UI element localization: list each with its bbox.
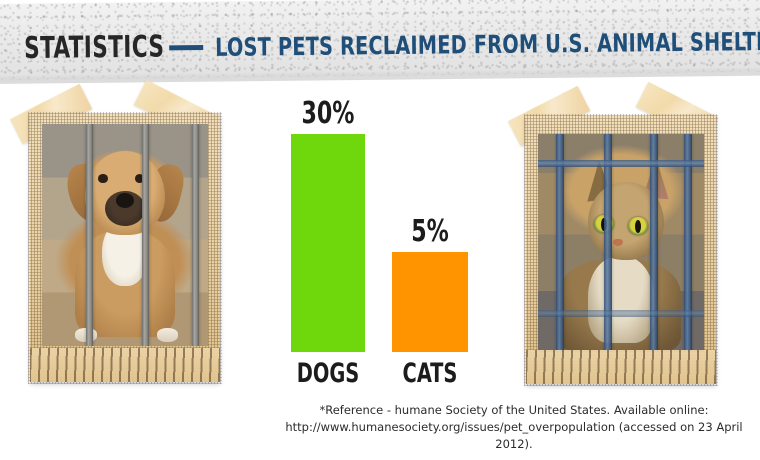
footnote: *Reference - humane Society of the Unite… xyxy=(275,402,753,453)
photo-frame-cat xyxy=(526,116,716,384)
footnote-line-1: *Reference - humane Society of the Unite… xyxy=(275,402,753,419)
bar-value-label-cats: 5% xyxy=(411,217,449,247)
page-kicker: STATISTICS xyxy=(24,32,164,64)
photo-card-dog xyxy=(8,92,223,392)
footnote-line-2: http://www.humanesociety.org/issues/pet_… xyxy=(275,419,753,453)
bar-group-cats: 5% CATS xyxy=(392,252,468,352)
bar-category-label-dogs: DOGS xyxy=(297,360,360,387)
photo-frame-dog xyxy=(30,114,220,382)
title-dash-divider xyxy=(169,45,203,50)
cage-bar-horizontal xyxy=(538,310,704,317)
cat-scene xyxy=(538,134,704,352)
page-title: LOST PETS RECLAIMED FROM U.S. ANIMAL SHE… xyxy=(215,28,760,59)
bar-chart: 30% DOGS 5% CATS xyxy=(270,100,490,390)
infographic-canvas: STATISTICS LOST PETS RECLAIMED FROM U.S.… xyxy=(0,0,760,460)
header-title-row: STATISTICS LOST PETS RECLAIMED FROM U.S.… xyxy=(24,22,740,68)
photo-image-cat xyxy=(538,134,704,352)
photo-frame-bottom-dog xyxy=(30,348,220,382)
cage-bar xyxy=(86,124,93,346)
photo-image-dog xyxy=(42,124,208,346)
bar-category-label-cats: CATS xyxy=(403,360,458,387)
cage-bars-cat xyxy=(538,134,704,352)
cage-bars-dog xyxy=(42,124,208,346)
photo-card-cat xyxy=(488,92,728,392)
header-banner: STATISTICS LOST PETS RECLAIMED FROM U.S.… xyxy=(0,4,760,84)
cage-bar-horizontal xyxy=(538,160,704,167)
photo-frame-bottom-cat xyxy=(526,350,716,384)
bar-group-dogs: 30% DOGS xyxy=(291,134,365,352)
dog-scene xyxy=(42,124,208,346)
bar-dogs[interactable] xyxy=(291,134,365,352)
cage-bar xyxy=(142,124,149,346)
bar-value-label-dogs: 30% xyxy=(302,99,355,129)
bar-cats[interactable] xyxy=(392,252,468,352)
cage-bar xyxy=(192,124,199,346)
